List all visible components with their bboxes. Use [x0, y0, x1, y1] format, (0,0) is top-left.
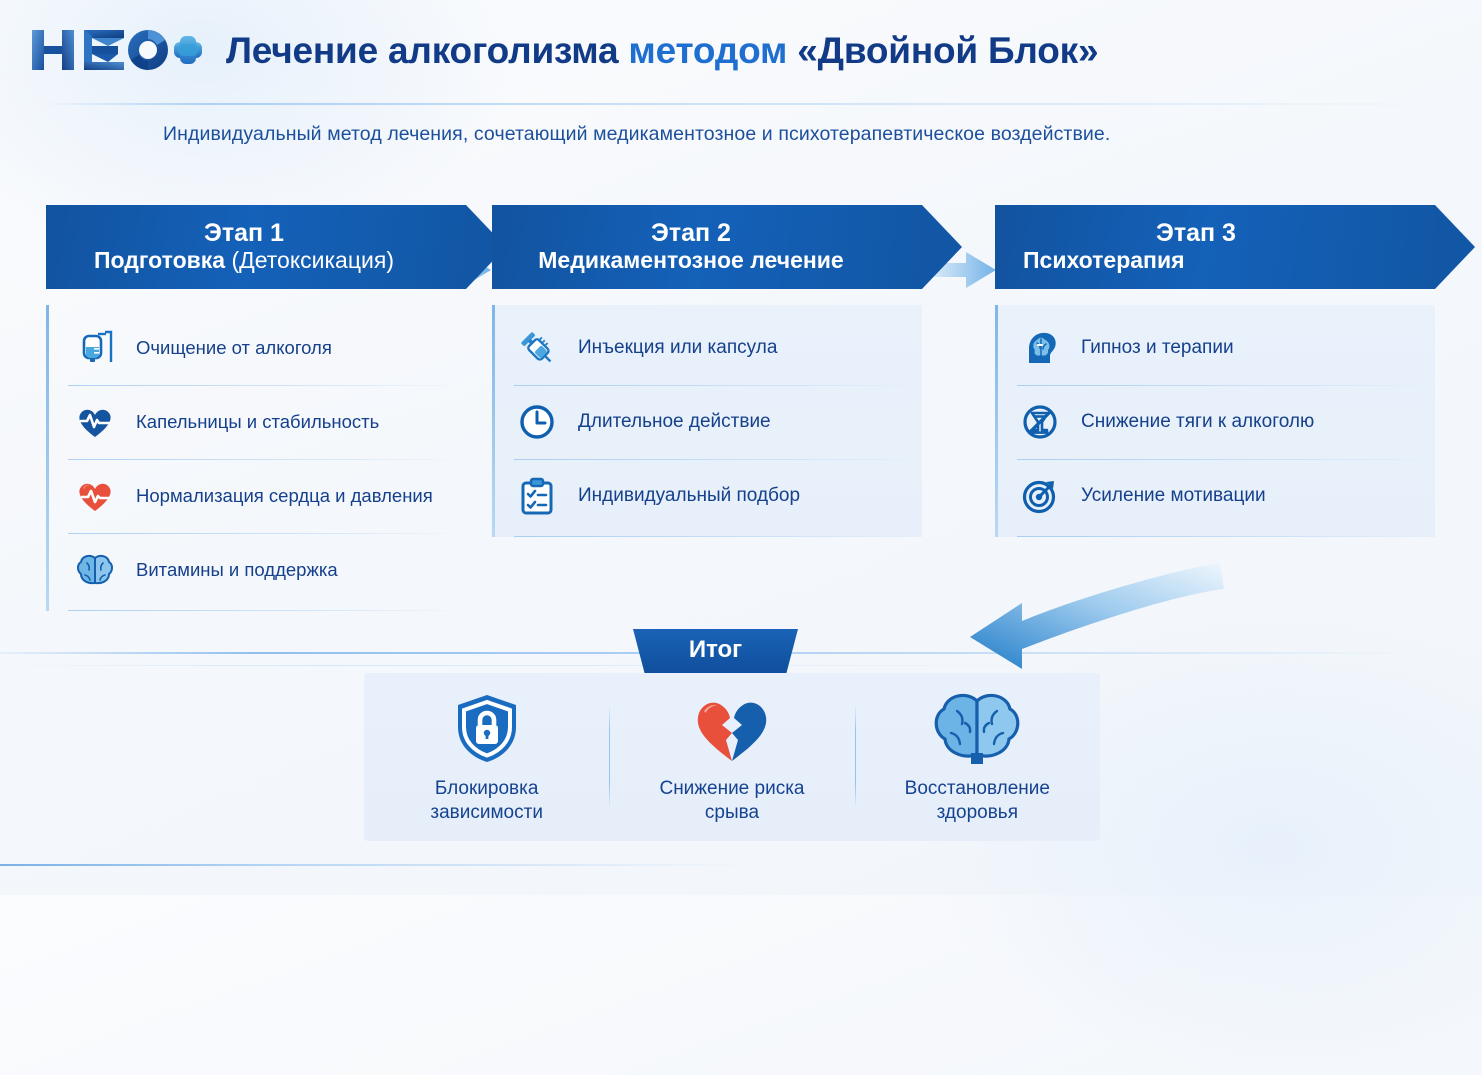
stage-2-item-1-label: Инъекция или капсула: [578, 337, 777, 360]
stage-3-item-3[interactable]: Усиление мотивации: [995, 459, 1435, 533]
head-brain-icon: [1017, 325, 1063, 371]
result-item-3-label: Восстановление здоровья: [905, 777, 1050, 826]
stage-1-name: Подготовка (Детоксикация): [68, 247, 420, 273]
stage-3-item-3-label: Усиление мотивации: [1081, 485, 1266, 508]
stage-1: Этап 1 Подготовка (Детоксикация): [46, 205, 466, 611]
result-item-1-line1: Блокировка: [435, 778, 539, 799]
mid-secondary-rule: [0, 665, 1100, 666]
clock-icon: [514, 399, 560, 445]
stage-2-bottom-rule: [514, 536, 904, 537]
infographic-canvas: Лечение алкоголизма методом «Двойной Бло…: [0, 0, 1482, 895]
brain-recovery-icon: [931, 689, 1023, 767]
heart-pulse-red-icon: [72, 473, 118, 519]
stage-3-number: Этап 3: [1017, 220, 1375, 247]
result-item-3[interactable]: Восстановление здоровья: [855, 689, 1100, 826]
stage-2-name: Медикаментозное лечение: [514, 247, 868, 273]
title-part-2: методом: [628, 30, 787, 71]
stage-1-name-bold: Подготовка: [94, 247, 225, 273]
stage-1-number: Этап 1: [68, 220, 420, 247]
stage-1-bottom-rule: [68, 610, 448, 611]
stage-1-item-1-label: Очищение от алкоголя: [136, 337, 332, 359]
stage-2-banner: Этап 2 Медикаментозное лечение: [492, 205, 922, 289]
result-item-1-line2: зависимости: [430, 802, 543, 823]
title-part-1: Лечение алкоголизма: [226, 30, 618, 71]
result-item-2-label: Снижение риска срыва: [659, 777, 804, 826]
stage-3: Этап 3 Психотерапия Гипноз и терапии: [995, 205, 1435, 537]
stage-1-banner: Этап 1 Подготовка (Детоксикация): [46, 205, 466, 289]
stage-2-item-2-label: Длительное действие: [578, 411, 771, 434]
neo-plus-logo: [28, 24, 204, 76]
stage-2-item-3[interactable]: Индивидуальный подбор: [492, 459, 922, 533]
stage-2-item-1[interactable]: Инъекция или капсула: [492, 311, 922, 385]
brain-icon: [72, 547, 118, 593]
stage-2-item-3-label: Индивидуальный подбор: [578, 485, 800, 508]
curved-arrow-stage3-to-result: [960, 545, 1280, 675]
target-arrow-icon: [1017, 473, 1063, 519]
stage-2-panel: Инъекция или капсула Длительное действие: [492, 305, 922, 537]
stage-2-item-2[interactable]: Длительное действие: [492, 385, 922, 459]
result-item-1-label: Блокировка зависимости: [430, 777, 543, 826]
title-part-3: «Двойной Блок»: [797, 30, 1098, 71]
stage-1-panel: Очищение от алкоголя Капельницы и стабил…: [46, 305, 466, 611]
stage-3-bottom-rule: [1017, 536, 1417, 537]
shield-lock-icon: [448, 689, 526, 767]
syringe-icon: [514, 325, 560, 371]
stage-2: Этап 2 Медикаментозное лечение: [492, 205, 922, 537]
result-badge: Итог: [633, 629, 798, 673]
broken-heart-icon: [688, 689, 776, 767]
stage-1-item-2[interactable]: Капельницы и стабильность: [46, 385, 466, 459]
result-item-2[interactable]: Снижение риска срыва: [609, 689, 854, 826]
stage-3-item-1-label: Гипноз и терапии: [1081, 337, 1234, 360]
stage-1-item-4[interactable]: Витамины и поддержка: [46, 533, 466, 607]
page-subtitle: Индивидуальный метод лечения, сочетающий…: [163, 123, 1110, 146]
result-item-2-line1: Снижение риска: [659, 778, 804, 799]
stage-1-item-1[interactable]: Очищение от алкоголя: [46, 311, 466, 385]
iv-drip-icon: [72, 325, 118, 371]
page-header: Лечение алкоголизма методом «Двойной Бло…: [28, 24, 1098, 76]
stage-2-number: Этап 2: [514, 220, 868, 247]
bottom-divider-rule: [0, 864, 1360, 866]
stage-3-banner: Этап 3 Психотерапия: [995, 205, 1435, 289]
header-divider-rule: [40, 103, 1440, 105]
heart-pulse-blue-icon: [72, 399, 118, 445]
result-item-3-line2: здоровья: [937, 802, 1018, 823]
stage-3-name: Психотерапия: [1017, 247, 1375, 273]
stage-3-item-2-label: Снижение тяги к алкоголю: [1081, 411, 1314, 434]
stage-3-item-1[interactable]: Гипноз и терапии: [995, 311, 1435, 385]
result-item-3-line1: Восстановление: [905, 778, 1050, 799]
stage-3-item-2[interactable]: Снижение тяги к алкоголю: [995, 385, 1435, 459]
result-card: Блокировка зависимости Снижение риска ср…: [364, 673, 1100, 841]
stage-3-panel: Гипноз и терапии Снижение тяги к алкогол…: [995, 305, 1435, 537]
clipboard-checklist-icon: [514, 473, 560, 519]
stage-1-item-2-label: Капельницы и стабильность: [136, 411, 379, 433]
stage-1-item-3[interactable]: Нормализация сердца и давления: [46, 459, 466, 533]
no-alcohol-glass-icon: [1017, 399, 1063, 445]
result-item-2-line2: срыва: [705, 802, 759, 823]
stage-1-name-light: (Детоксикация): [231, 247, 394, 273]
stage-1-item-4-label: Витамины и поддержка: [136, 559, 338, 581]
page-title: Лечение алкоголизма методом «Двойной Бло…: [226, 32, 1098, 69]
stage-1-item-3-label: Нормализация сердца и давления: [136, 485, 433, 507]
result-item-1[interactable]: Блокировка зависимости: [364, 689, 609, 826]
